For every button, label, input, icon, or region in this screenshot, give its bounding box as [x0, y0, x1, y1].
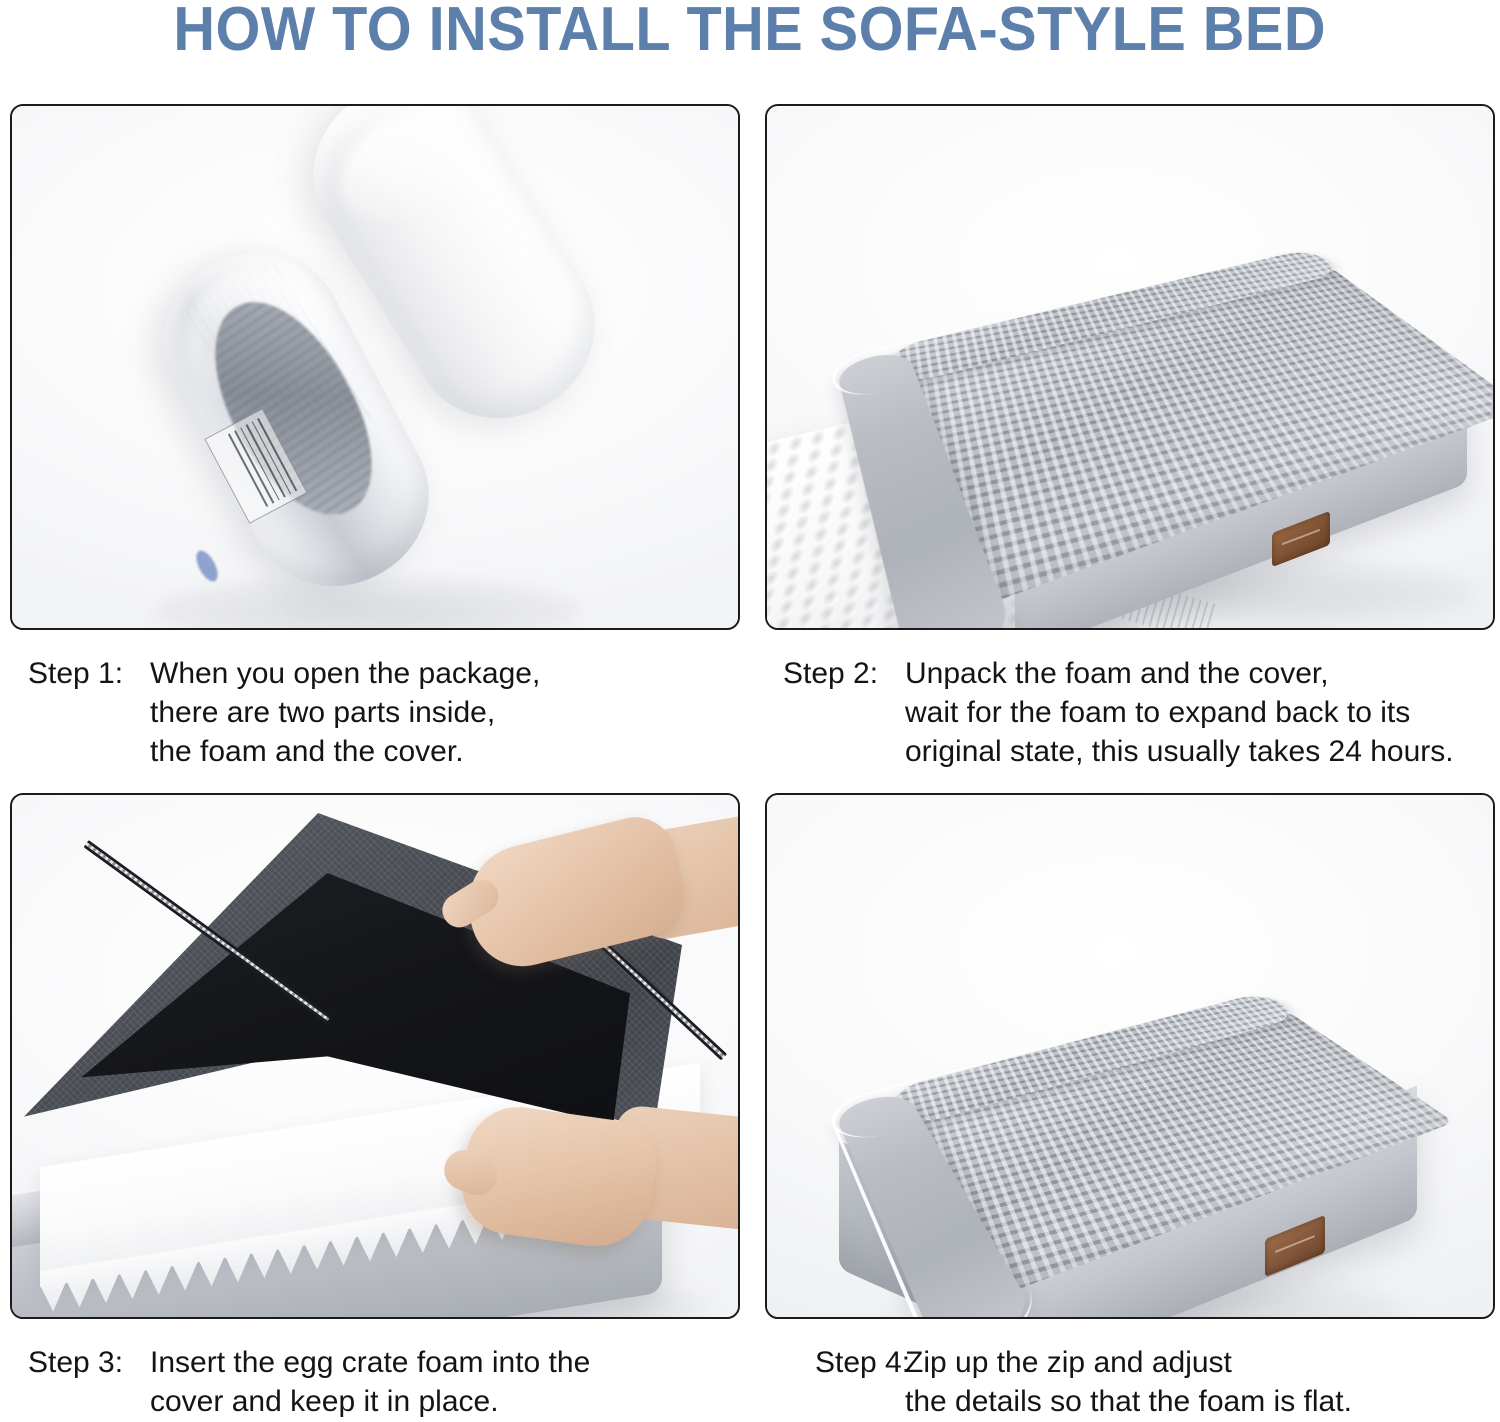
step-cell-4: Step 4: Zip up the zip and adjust the de…	[765, 793, 1495, 1421]
step-4-caption: Step 4: Zip up the zip and adjust the de…	[765, 1319, 1495, 1421]
step-1-text: When you open the package, there are two…	[150, 654, 740, 771]
step-3-line-1: Insert the egg crate foam into the	[150, 1343, 740, 1382]
step-2-label: Step 2:	[765, 654, 905, 693]
step-row-bottom: Step 3: Insert the egg crate foam into t…	[10, 793, 1495, 1421]
step-3-text: Insert the egg crate foam into the cover…	[150, 1343, 740, 1421]
step-1-label: Step 1:	[10, 654, 150, 693]
step-4-photo	[765, 793, 1495, 1319]
step-4-line-2: the details so that the foam is flat.	[905, 1382, 1495, 1421]
steps-grid: Step 1: When you open the package, there…	[10, 104, 1495, 1421]
step-1-photo	[10, 104, 740, 630]
how-to-install-infographic: HOW TO INSTALL THE SOFA-STYLE BED	[0, 0, 1500, 1422]
step-2-caption: Step 2: Unpack the foam and the cover, w…	[765, 630, 1495, 771]
step-3-label: Step 3:	[10, 1343, 150, 1382]
step-1-line-1: When you open the package,	[150, 654, 740, 693]
step-4-line-1: Zip up the zip and adjust	[905, 1343, 1495, 1382]
page-title-text: HOW TO INSTALL THE SOFA-STYLE BED	[174, 0, 1327, 61]
step-3-caption: Step 3: Insert the egg crate foam into t…	[10, 1319, 740, 1421]
page-title: HOW TO INSTALL THE SOFA-STYLE BED	[0, 0, 1500, 70]
step-4-label: Step 4:	[765, 1343, 905, 1382]
step-2-line-1: Unpack the foam and the cover,	[905, 654, 1495, 693]
step-2-line-2: wait for the foam to expand back to its	[905, 693, 1495, 732]
step-3-line-2: cover and keep it in place.	[150, 1382, 740, 1421]
step-cell-3: Step 3: Insert the egg crate foam into t…	[10, 793, 740, 1421]
step-4-text: Zip up the zip and adjust the details so…	[905, 1343, 1495, 1421]
step-1-caption: Step 1: When you open the package, there…	[10, 630, 740, 771]
step-2-line-3: original state, this usually takes 24 ho…	[905, 732, 1495, 771]
step-cell-2: Step 2: Unpack the foam and the cover, w…	[765, 104, 1495, 771]
step-row-top: Step 1: When you open the package, there…	[10, 104, 1495, 771]
step-1-line-3: the foam and the cover.	[150, 732, 740, 771]
step-1-line-2: there are two parts inside,	[150, 693, 740, 732]
step-2-text: Unpack the foam and the cover, wait for …	[905, 654, 1495, 771]
step-3-photo	[10, 793, 740, 1319]
step-2-photo	[765, 104, 1495, 630]
step-cell-1: Step 1: When you open the package, there…	[10, 104, 740, 771]
